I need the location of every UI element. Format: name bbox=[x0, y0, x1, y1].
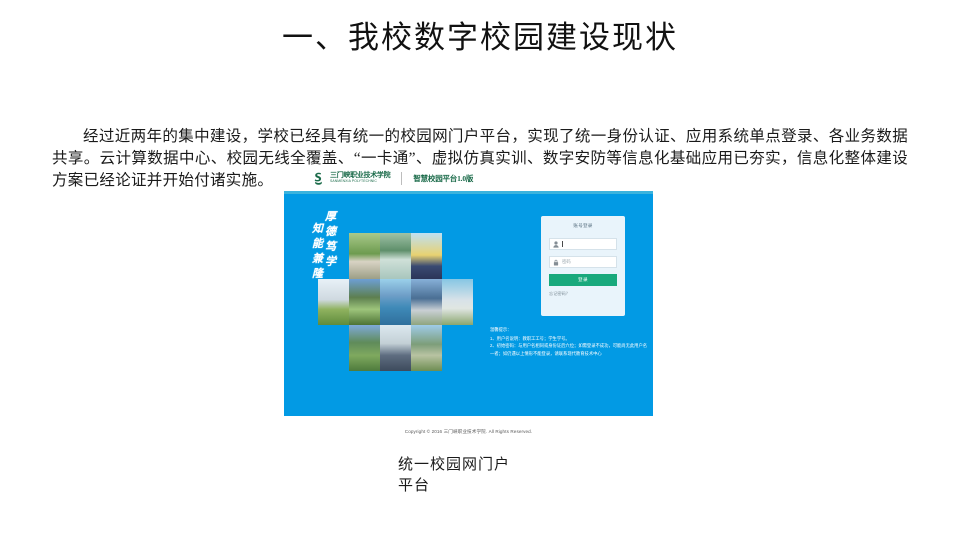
logo-school-name-cn: 三门峡职业技术学院 bbox=[330, 172, 390, 179]
password-field[interactable]: 密码 bbox=[549, 256, 617, 268]
mosaic-row bbox=[349, 325, 473, 371]
page-title: 一、我校数字校园建设现状 bbox=[0, 18, 960, 58]
user-icon bbox=[553, 241, 559, 248]
portal-screenshot: 三门峡职业技术学院 SANMENXIA POLYTECHNIC 智慧校园平台1.… bbox=[284, 165, 653, 447]
notice-line-1: 1、用户名说明：教职工工号；学生学号。 bbox=[490, 335, 642, 343]
mosaic-tile-aerial bbox=[349, 325, 380, 371]
mosaic-row bbox=[318, 279, 473, 325]
portal-footer: Copyright © 2016 三门峡职业技术学院. All Rights R… bbox=[284, 416, 653, 447]
portal-hero: 厚 德 笃 学 知 能 兼 隆 bbox=[284, 194, 653, 416]
motto-column-b: 知 能 兼 隆 bbox=[312, 222, 323, 282]
mosaic-tile-lake bbox=[380, 233, 411, 279]
motto-char: 厚 bbox=[325, 210, 336, 225]
photo-mosaic bbox=[318, 233, 473, 371]
copyright-text: Copyright © 2016 三门峡职业技术学院. All Rights R… bbox=[405, 429, 532, 435]
mosaic-tile-students bbox=[411, 233, 442, 279]
figure-caption: 统一校园网门户 平台 bbox=[398, 455, 618, 497]
login-notice: 温馨提示： 1、用户名说明：教职工工号；学生学号。 2、初始密码：与用户名相同或… bbox=[490, 326, 642, 357]
school-emblem-icon bbox=[312, 172, 325, 185]
school-motto: 厚 德 笃 学 知 能 兼 隆 bbox=[312, 210, 336, 282]
motto-char: 能 bbox=[312, 237, 323, 252]
login-button[interactable]: 登录 bbox=[549, 274, 617, 286]
motto-char: 学 bbox=[325, 255, 336, 270]
mosaic-tile-stadium bbox=[442, 279, 473, 325]
logo-divider bbox=[401, 172, 402, 185]
username-field[interactable] bbox=[549, 238, 617, 250]
login-title: 账号登录 bbox=[549, 223, 617, 229]
logo-school-name-en: SANMENXIA POLYTECHNIC bbox=[330, 179, 387, 184]
forgot-password-link[interactable]: 忘记密码？ bbox=[549, 291, 617, 297]
motto-char: 兼 bbox=[312, 252, 323, 267]
portal-subtitle: 智慧校园平台1.0版 bbox=[413, 173, 473, 184]
motto-char: 隆 bbox=[312, 267, 323, 282]
caption-line-2: 平台 bbox=[398, 476, 618, 497]
mosaic-tile-graduates bbox=[380, 325, 411, 371]
motto-char: 笃 bbox=[325, 240, 336, 255]
mosaic-tile-park bbox=[349, 233, 380, 279]
mosaic-row bbox=[349, 233, 473, 279]
motto-char: 德 bbox=[325, 225, 336, 240]
mosaic-tile-city bbox=[380, 279, 411, 325]
caption-line-1: 统一校园网门户 bbox=[398, 455, 618, 476]
mosaic-tile-campus bbox=[349, 279, 380, 325]
portal-header: 三门峡职业技术学院 SANMENXIA POLYTECHNIC 智慧校园平台1.… bbox=[284, 165, 653, 191]
login-card: 账号登录 密码 bbox=[541, 216, 625, 316]
mosaic-tile-building bbox=[411, 279, 442, 325]
notice-line-2: 2、初始密码：与用户名相同或身份证后六位；如需登录不成功，可能尚无此用户名 bbox=[490, 342, 642, 350]
motto-column-a: 厚 德 笃 学 bbox=[325, 210, 336, 282]
lock-icon bbox=[553, 259, 559, 266]
password-value: 密码 bbox=[562, 259, 571, 265]
text-caret bbox=[562, 241, 563, 247]
mosaic-tile-dormitory bbox=[411, 325, 442, 371]
mosaic-tile-dome bbox=[318, 279, 349, 325]
notice-title: 温馨提示： bbox=[490, 326, 642, 334]
site-logo: 三门峡职业技术学院 SANMENXIA POLYTECHNIC 智慧校园平台1.… bbox=[312, 172, 473, 185]
notice-line-3: 一者；如仍遇以上情形不能登录，请联系现代教育技术中心 bbox=[490, 350, 642, 358]
motto-char: 知 bbox=[312, 222, 323, 237]
